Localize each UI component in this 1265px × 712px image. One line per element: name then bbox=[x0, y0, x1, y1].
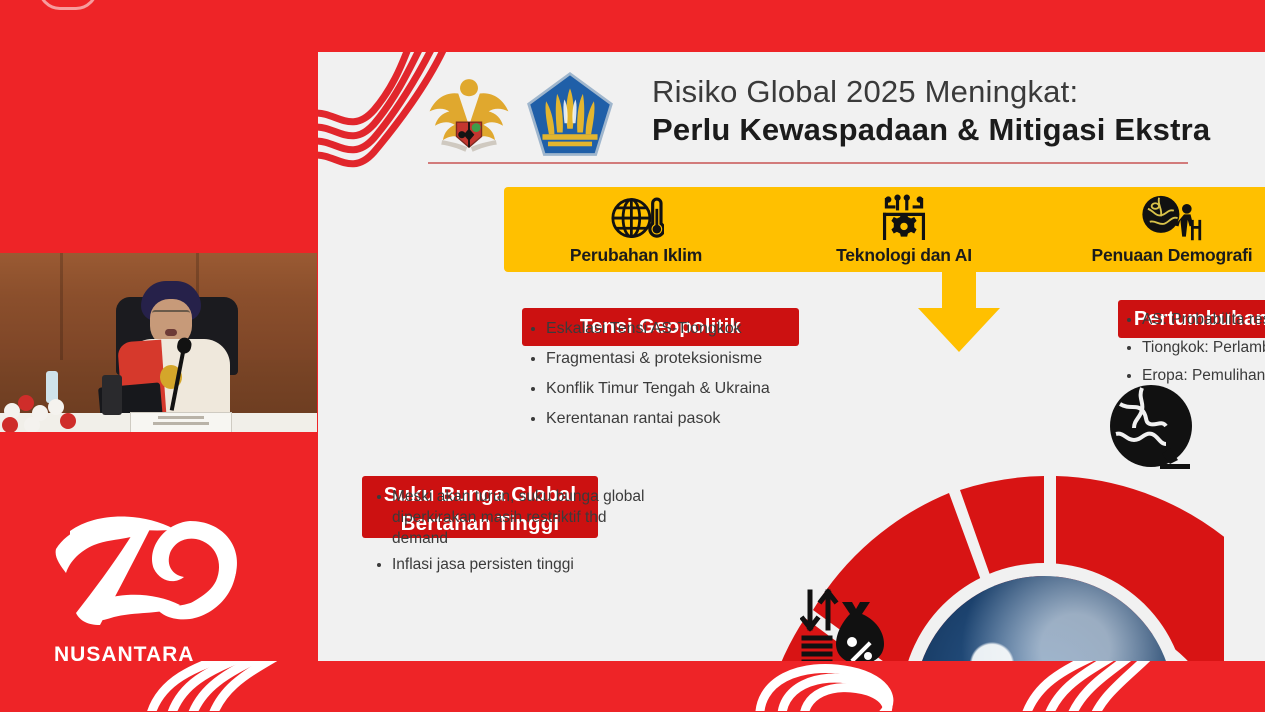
garuda-pancasila-icon bbox=[424, 72, 514, 158]
list-item: Meski akan turun, suku bunga global dipe… bbox=[392, 486, 652, 549]
panel-geopolitik: Tensi Geopolitik Eskalasi Tensi AS-Tiong… bbox=[522, 308, 822, 436]
slide-title: Risiko Global 2025 Meningkat: Perlu Kewa… bbox=[652, 72, 1210, 149]
ministry-crest-icon bbox=[38, 0, 98, 10]
banner-label-climate: Perubahan Iklim bbox=[504, 245, 768, 266]
list-item: Eskalasi Tensi AS-Tiongkok bbox=[546, 316, 822, 341]
banner-label-demography: Penuaan Demografi bbox=[1040, 245, 1265, 266]
banner-item-technology[interactable]: Teknologi dan AI bbox=[772, 187, 1036, 272]
bottom-decorative-band bbox=[0, 661, 1265, 711]
list-item: Kerentanan rantai pasok bbox=[546, 406, 822, 431]
panel-suku-bunga: Suku Bunga Global Bertahan Tinggi Meski … bbox=[362, 476, 652, 580]
panel-suku-bunga-bullets: Meski akan turun, suku bunga global dipe… bbox=[362, 486, 652, 575]
global-risk-banner: Perubahan Iklim bbox=[504, 187, 1265, 272]
live-speaker-video[interactable] bbox=[0, 253, 317, 432]
banner-item-climate[interactable]: Perubahan Iklim bbox=[504, 187, 768, 272]
presentation-slide: Risiko Global 2025 Meningkat: Perlu Kewa… bbox=[318, 52, 1265, 677]
globe-outline-icon bbox=[1104, 382, 1204, 474]
flower-arrangement bbox=[0, 389, 84, 432]
slide-title-line-1: Risiko Global 2025 Meningkat: bbox=[652, 72, 1210, 111]
panel-pertumbuhan-bullets: AS: Probabilita resesi, tekanan fiskal T… bbox=[1118, 308, 1265, 387]
list-item: Tiongkok: Perlambatan bbox=[1142, 336, 1265, 359]
slide-title-line-2: Perlu Kewaspadaan & Mitigasi Ekstra bbox=[652, 111, 1210, 149]
banner-item-demography[interactable]: Penuaan Demografi bbox=[1040, 187, 1265, 272]
thermos bbox=[102, 375, 122, 415]
kemenkeu-logo-icon bbox=[524, 70, 616, 160]
panel-geopolitik-bullets: Eskalasi Tensi AS-Tiongkok Fragmentasi &… bbox=[522, 316, 822, 431]
glasses-icon bbox=[152, 310, 190, 321]
name-plate bbox=[130, 412, 232, 432]
ministry-logo: REPUBLIK INDONESIA bbox=[0, 0, 300, 12]
panel-pertumbuhan: Pertumbuhan Ekonomi AS: Probabilita rese… bbox=[1118, 300, 1265, 392]
ai-chip-gear-icon bbox=[772, 187, 1036, 245]
aging-person-globe-icon bbox=[1040, 187, 1265, 245]
ministry-logo-label: REPUBLIK INDONESIA bbox=[110, 0, 261, 1]
white-swirl-ribbons-icon bbox=[0, 661, 1265, 711]
list-item: Eropa: Pemulihan lambat bbox=[1142, 364, 1265, 387]
down-arrow-icon bbox=[904, 266, 1014, 354]
globe-thermometer-icon bbox=[504, 187, 768, 245]
list-item: Inflasi jasa persisten tinggi bbox=[392, 554, 652, 575]
wall-seam bbox=[60, 253, 63, 360]
seventy-nine-icon bbox=[40, 505, 250, 637]
banner-label-technology: Teknologi dan AI bbox=[772, 245, 1036, 266]
slide-header: Risiko Global 2025 Meningkat: Perlu Kewa… bbox=[318, 52, 1265, 172]
list-item: Konflik Timur Tengah & Ukraina bbox=[546, 376, 822, 401]
header-rule bbox=[428, 162, 1188, 164]
speaker-mouth bbox=[165, 329, 177, 336]
list-item: AS: Probabilita resesi, tekanan fiskal bbox=[1142, 308, 1265, 331]
list-item: Fragmentasi & proteksionisme bbox=[546, 346, 822, 371]
